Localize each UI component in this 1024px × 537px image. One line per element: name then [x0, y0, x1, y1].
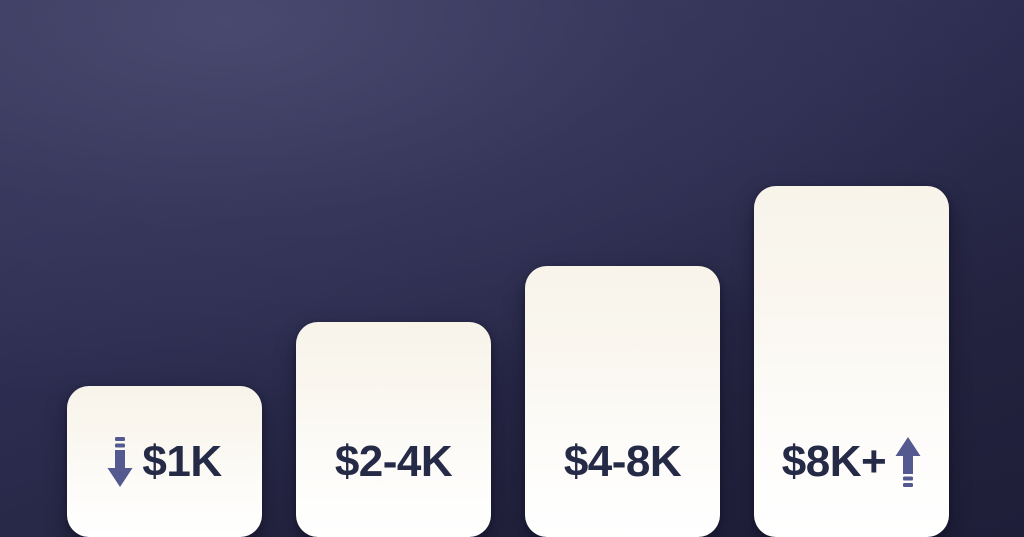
arrow-up-icon [895, 437, 921, 487]
bar-value-text: $1K [142, 440, 221, 484]
bar-group-foundational-growth: $2-4K Foundational Growth [296, 134, 491, 537]
bar-group-strategic-growth: $4-8K Strategic Growth [525, 134, 720, 537]
infographic-canvas: $1K Minimal Presence $2-4K Foundational … [0, 0, 1024, 537]
bar-foundational-growth[interactable]: $2-4K [296, 322, 491, 537]
bar-accelerated-growth[interactable]: $8K+ [754, 186, 949, 537]
bar-minimal-presence[interactable]: $1K [67, 386, 262, 537]
bar-value-minimal-presence: $1K [107, 437, 221, 487]
bar-value-accelerated-growth: $8K+ [782, 437, 921, 487]
bar-group-accelerated-growth: $8K+ Accelerated Growth [754, 134, 949, 537]
arrow-down-icon [107, 437, 133, 487]
budget-tier-bar-chart: $1K Minimal Presence $2-4K Foundational … [0, 0, 1024, 537]
bar-group-minimal-presence: $1K Minimal Presence [67, 134, 262, 537]
bar-strategic-growth[interactable]: $4-8K [525, 266, 720, 537]
bar-value-foundational-growth: $2-4K [335, 440, 452, 484]
bar-value-text: $8K+ [782, 440, 886, 484]
bar-value-text: $2-4K [335, 440, 452, 484]
bar-value-strategic-growth: $4-8K [564, 440, 681, 484]
bar-value-text: $4-8K [564, 440, 681, 484]
